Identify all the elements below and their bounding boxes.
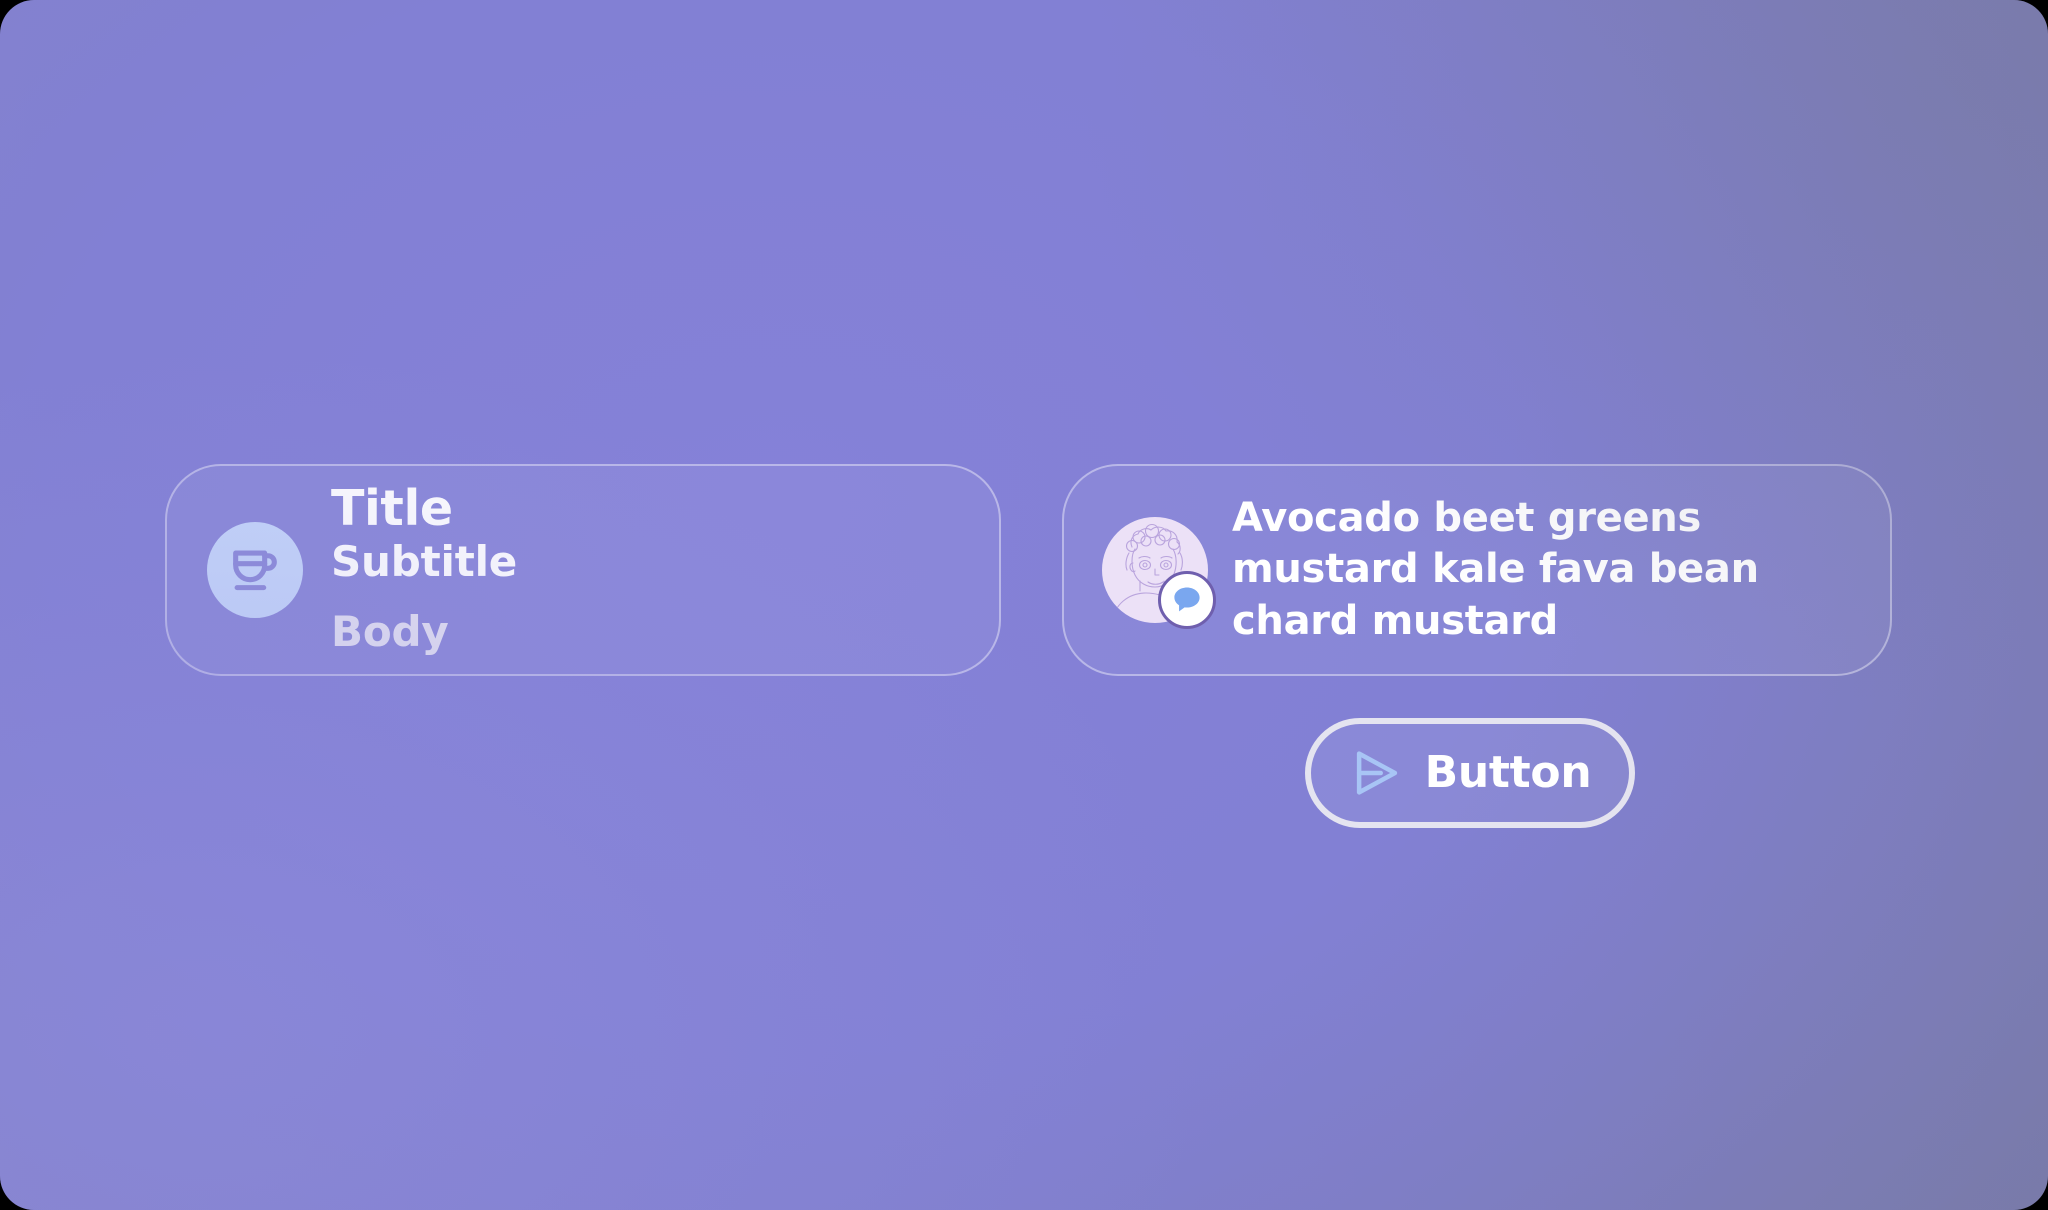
basic-card-text-block: Title Subtitle Body	[331, 481, 517, 660]
message-text: Avocado beet greens mustard kale fava be…	[1232, 493, 1852, 647]
card-subtitle: Subtitle	[331, 536, 517, 589]
coffee-cup-icon	[207, 522, 303, 618]
send-icon	[1349, 746, 1403, 800]
person-portrait-avatar	[1102, 517, 1208, 623]
send-button-label: Button	[1425, 751, 1592, 795]
chat-bubble-badge	[1158, 571, 1216, 629]
chat-bubble-glyph	[1170, 583, 1204, 617]
app-canvas: Title Subtitle Body	[0, 0, 2048, 1210]
coffee-cup-glyph	[226, 541, 284, 599]
message-card[interactable]: Avocado beet greens mustard kale fava be…	[1062, 464, 1892, 676]
send-button[interactable]: Button	[1305, 718, 1635, 828]
card-title: Title	[331, 481, 517, 537]
card-body: Body	[331, 605, 517, 660]
cards-container: Title Subtitle Body	[0, 0, 2048, 1210]
basic-list-card[interactable]: Title Subtitle Body	[165, 464, 1001, 676]
